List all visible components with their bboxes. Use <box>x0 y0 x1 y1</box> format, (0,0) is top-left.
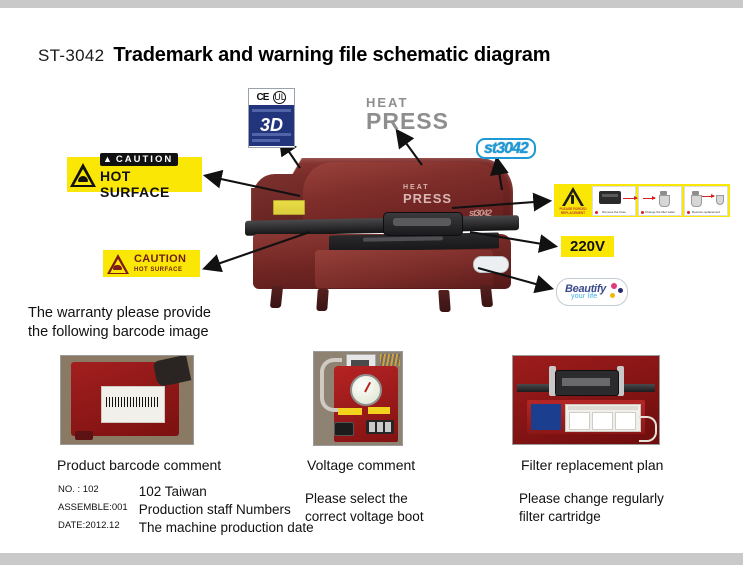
page-title: ST-3042 Trademark and warning file schem… <box>38 44 550 67</box>
filter-bowl <box>659 195 670 207</box>
badge-texture-line <box>252 109 291 112</box>
center-bracket <box>555 370 619 396</box>
voltage-selector-switch <box>366 420 394 434</box>
barcode-detail-table: NO. : 102 102 Taiwan ASSEMBLE:001 Produc… <box>56 482 316 538</box>
switch-key <box>369 422 375 432</box>
caution-banner: ▲ CAUTION <box>100 153 178 166</box>
warning-triangle-icon: ▲ <box>103 154 114 164</box>
title-heading: Trademark and warning file schematic dia… <box>113 44 550 67</box>
red-arrow-icon <box>623 198 637 199</box>
logo-dot-icon <box>610 293 615 298</box>
hand-burn-glyph <box>113 265 122 270</box>
filter-body-line2: filter cartridge <box>519 508 664 526</box>
compressor-icon <box>593 189 635 206</box>
exclamation-glyph <box>571 195 574 204</box>
caption-body-filter: Please change regularly filter cartridge <box>519 490 664 526</box>
heat-press-wordmark: HEAT PRESS <box>366 96 449 133</box>
product-barcode-photo <box>60 355 194 445</box>
caution-word: CAUTION <box>116 154 173 165</box>
barcode-key: NO. : 102 <box>58 484 137 500</box>
front-plate <box>527 400 645 434</box>
badge-texture-line <box>252 139 280 142</box>
filter-cap <box>660 191 667 195</box>
sticker-cell <box>592 412 613 430</box>
logo-dot-icon <box>611 283 617 289</box>
machine-front-drawer <box>315 250 493 288</box>
barcode-icon <box>106 397 160 407</box>
machine-handle-slot <box>393 218 451 226</box>
warning-panel-3: Receive replacement <box>684 186 728 216</box>
model-plate <box>531 404 561 430</box>
hot-surface-text: HOT SURFACE <box>134 267 186 273</box>
table-row: ASSEMBLE:001 Production staff Numbers <box>58 502 314 518</box>
sticker-header <box>568 406 638 410</box>
barcode-value: 102 Taiwan <box>139 484 314 500</box>
hot-surface-triangle-icon <box>70 163 96 187</box>
filter-glyph <box>659 191 668 205</box>
ce-3d-certification-label: CE UL 3D <box>248 88 295 148</box>
table-row: NO. : 102 102 Taiwan <box>58 484 314 500</box>
hose <box>320 358 342 412</box>
machine-foot <box>75 431 93 440</box>
caption-body-voltage: Please select the correct voltage boot <box>305 490 424 526</box>
wiring-harness <box>380 354 400 366</box>
red-arrow-icon <box>702 196 714 197</box>
filter-bowl <box>716 195 724 205</box>
beautify-tagline: your life <box>571 293 597 300</box>
filter-body-line1: Please change regularly <box>519 490 664 508</box>
caption-heading-barcode: Product barcode comment <box>57 457 221 473</box>
filter-replacement-photo <box>512 355 660 445</box>
heat-press-machine-illustration: HEAT PRESS st3042 <box>243 152 523 312</box>
pressure-gauge-icon <box>350 374 382 406</box>
filter-replacement-warning-strip: PLEASE FORCED REPLACEMENT Remove the hos… <box>554 184 730 217</box>
caution-hot-surface-label-small: CAUTION HOT SURFACE <box>103 250 200 277</box>
compressor-body <box>599 191 621 204</box>
machine-emboss-press: PRESS <box>403 192 452 205</box>
sticker-cell <box>569 412 590 430</box>
warranty-note-line1: The warranty please provide <box>28 304 211 323</box>
machine-dark-corner <box>153 355 192 387</box>
caution-word: CAUTION <box>134 254 186 265</box>
machine-leg <box>480 285 493 307</box>
filter-bowl <box>691 195 702 207</box>
red-arrow-icon <box>643 198 655 199</box>
ul-mark-icon: UL <box>273 91 286 104</box>
yellow-voltage-label <box>338 408 362 415</box>
machine-leg <box>316 289 329 311</box>
sticker-cell <box>615 412 636 430</box>
machine-yellow-warning-badge <box>273 200 305 215</box>
ce-mark-icon: CE <box>257 92 269 103</box>
barcode-key: DATE:2012.12 <box>58 520 137 536</box>
warning-panel-2: Change the filter water <box>638 186 682 216</box>
power-cord <box>639 416 657 442</box>
filter-glyph <box>691 191 700 205</box>
barcode-sticker <box>101 386 165 423</box>
page-root: ST-3042 Trademark and warning file schem… <box>0 0 743 565</box>
switch-key <box>377 422 383 432</box>
certification-marks-row: CE UL <box>249 89 294 105</box>
bottom-frame-band <box>0 553 743 565</box>
caution-text-group: CAUTION HOT SURFACE <box>134 254 186 273</box>
machine-heatpress-emboss: HEAT PRESS <box>403 184 452 205</box>
barcode-key: ASSEMBLE:001 <box>58 502 137 518</box>
warning-triangle-icon <box>562 187 584 206</box>
caution-text-group: ▲ CAUTION HOT SURFACE <box>100 149 202 200</box>
st3042-logo-text: st3042 <box>476 138 536 159</box>
st3042-brand-logo: st3042 <box>476 140 536 158</box>
machine-beautify-badge <box>473 256 509 273</box>
caption-heading-filter: Filter replacement plan <box>521 457 663 473</box>
yellow-voltage-label <box>368 407 390 414</box>
hot-surface-triangle-icon <box>107 254 129 274</box>
caption-heading-voltage: Voltage comment <box>307 457 415 473</box>
machine-emboss-heat: HEAT <box>403 184 452 191</box>
barcode-value: Production staff Numbers <box>139 502 314 518</box>
warning-triangle-block: PLEASE FORCED REPLACEMENT <box>556 187 590 215</box>
3d-badge-text: 3D <box>249 116 294 134</box>
voltage-switch-photo <box>313 351 403 446</box>
voltage-body-line1: Please select the <box>305 490 424 508</box>
logo-dot-icon <box>618 288 623 293</box>
warning-panel-1: Remove the hose <box>592 186 636 216</box>
filter-cartridge-icon <box>639 189 681 206</box>
voltage-body-line2: correct voltage boot <box>305 508 424 526</box>
warning-panel-caption: Change the filter water <box>640 211 680 214</box>
title-model-number: ST-3042 <box>38 46 104 66</box>
warning-sticker <box>565 404 641 432</box>
table-row: DATE:2012.12 The machine production date <box>58 520 314 536</box>
filter-glyph-small <box>716 195 722 204</box>
warning-triangle-caption: PLEASE FORCED REPLACEMENT <box>556 207 590 215</box>
hot-surface-text: HOT SURFACE <box>100 168 202 200</box>
barcode-value: The machine production date <box>139 520 314 536</box>
top-frame-band <box>0 0 743 8</box>
filter-cap <box>692 191 699 195</box>
heat-press-line2: PRESS <box>366 110 449 133</box>
3d-badge-panel: 3D <box>249 105 294 146</box>
warning-panel-caption: Remove the hose <box>594 211 634 214</box>
machine-leg <box>270 286 283 308</box>
warranty-note-line2: the following barcode image <box>28 323 211 342</box>
rocker-switch <box>334 422 354 436</box>
machine-leg <box>438 290 451 312</box>
switch-key <box>385 422 391 432</box>
filter-removal-icon <box>685 189 727 206</box>
warranty-note: The warranty please provide the followin… <box>28 304 211 342</box>
voltage-label: 220V <box>561 236 614 257</box>
caution-hot-surface-label-large: ▲ CAUTION HOT SURFACE <box>67 157 202 192</box>
warning-panel-caption: Receive replacement <box>686 211 726 214</box>
beautify-your-life-logo: Beautify your life <box>556 278 628 306</box>
